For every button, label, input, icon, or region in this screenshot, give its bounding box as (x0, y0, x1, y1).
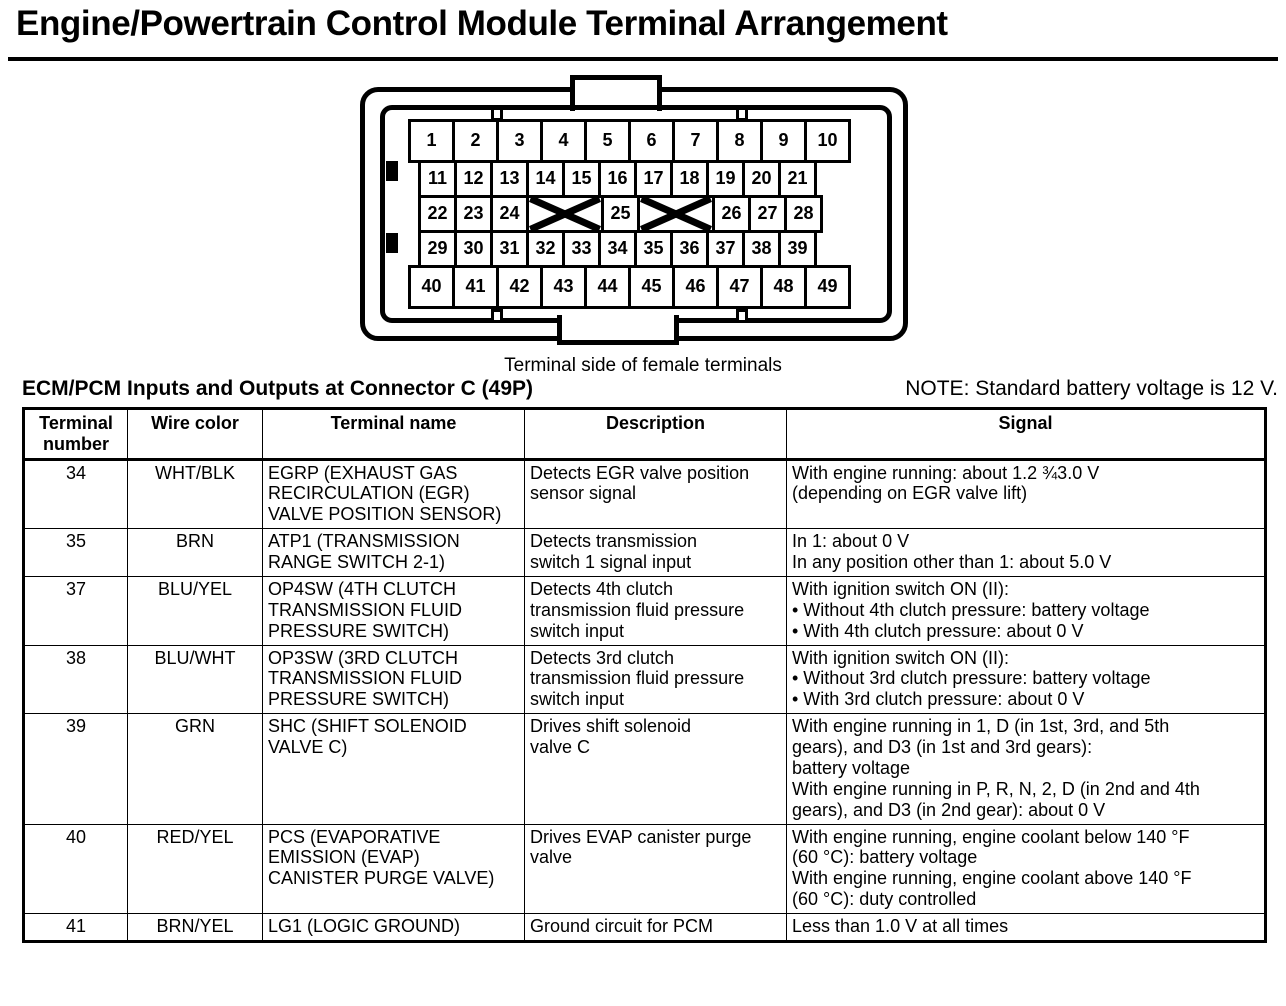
sig-line: (60 °C): battery voltage (792, 847, 1259, 868)
cell-signal: With engine running: about 1.2 ¾3.0 V(de… (787, 459, 1266, 529)
terminal-cell-44: 44 (584, 265, 631, 309)
nm-line: SHC (SHIFT SOLENOID (268, 716, 519, 737)
terminal-cell-14: 14 (526, 160, 565, 198)
cell-terminal-number: 37 (24, 576, 128, 645)
sig-line: In 1: about 0 V (792, 531, 1259, 552)
terminal-number-label: 27 (757, 203, 777, 224)
terminal-cell-blocked (526, 195, 604, 233)
terminal-cell-24: 24 (490, 195, 529, 233)
cell-signal: With ignition switch ON (II):• Without 4… (787, 576, 1266, 645)
nm-line: LG1 (LOGIC GROUND) (268, 916, 519, 937)
cell-terminal-number: 41 (24, 914, 128, 942)
table-row: 40RED/YELPCS (EVAPORATIVEEMISSION (EVAP)… (24, 824, 1266, 914)
pin-table-head: Terminal number Wire color Terminal name… (24, 408, 1266, 459)
terminal-cell-11: 11 (418, 160, 457, 198)
cell-wire-color: BRN/YEL (128, 914, 263, 942)
terminal-number-label: 6 (646, 130, 656, 151)
cell-description: Drives shift solenoidvalve C (525, 714, 787, 824)
terminal-number-label: 43 (553, 276, 573, 297)
sig-line: With ignition switch ON (II): (792, 648, 1259, 669)
nm-line: Detects 3rd clutch (530, 648, 781, 669)
nm-line: transmission fluid pressure (530, 668, 781, 689)
cell-description: Detects EGR valve positionsensor signal (525, 459, 787, 529)
nm-line: ATP1 (TRANSMISSION (268, 531, 519, 552)
terminal-cell-35: 35 (634, 230, 673, 268)
terminal-number-label: 37 (715, 238, 735, 259)
nm-line: EGRP (EXHAUST GAS (268, 463, 519, 484)
nm-line: VALVE POSITION SENSOR) (268, 504, 519, 525)
terminal-number-label: 39 (787, 238, 807, 259)
nm-line: VALVE C) (268, 737, 519, 758)
terminal-number-label: 45 (641, 276, 661, 297)
terminal-number-label: 30 (463, 238, 483, 259)
terminal-cell-18: 18 (670, 160, 709, 198)
cell-terminal-name: LG1 (LOGIC GROUND) (263, 914, 525, 942)
terminal-cell-5: 5 (584, 119, 631, 163)
terminal-cell-4: 4 (540, 119, 587, 163)
terminal-grid: 12345678910 1112131415161718192021 22232… (398, 119, 874, 311)
nm-line: OP3SW (3RD CLUTCH (268, 648, 519, 669)
cell-terminal-number: 38 (24, 645, 128, 714)
diagram-caption: Terminal side of female terminals (0, 355, 1286, 377)
nm-line: PRESSURE SWITCH) (268, 621, 519, 642)
sig-line: With engine running, engine coolant belo… (792, 827, 1259, 848)
nm-line: Drives shift solenoid (530, 716, 781, 737)
terminal-number-label: 2 (470, 130, 480, 151)
terminal-cell-8: 8 (716, 119, 763, 163)
terminal-number-label: 7 (690, 130, 700, 151)
terminal-cell-25: 25 (601, 195, 640, 233)
sig-line: In any position other than 1: about 5.0 … (792, 552, 1259, 573)
cell-terminal-name: PCS (EVAPORATIVEEMISSION (EVAP)CANISTER … (263, 824, 525, 914)
connector-bottom-tab-left (491, 309, 503, 323)
terminal-number-label: 1 (426, 130, 436, 151)
nm-line: TRANSMISSION FLUID (268, 600, 519, 621)
table-row: 34WHT/BLKEGRP (EXHAUST GASRECIRCULATION … (24, 459, 1266, 529)
cell-wire-color: BLU/WHT (128, 645, 263, 714)
nm-line: Detects transmission (530, 531, 781, 552)
sig-bullet: • Without 3rd clutch pressure: battery v… (792, 668, 1259, 689)
sig-line: battery voltage (792, 758, 1259, 779)
terminal-number-label: 15 (571, 168, 591, 189)
cell-description: Drives EVAP canister purgevalve (525, 824, 787, 914)
nm-line: valve C (530, 737, 781, 758)
nm-line: Detects 4th clutch (530, 579, 781, 600)
terminal-number-label: 9 (778, 130, 788, 151)
cell-signal: In 1: about 0 VIn any position other tha… (787, 529, 1266, 577)
terminal-number-label: 20 (751, 168, 771, 189)
terminal-number-label: 24 (499, 203, 519, 224)
sig-bullet: • With 4th clutch pressure: about 0 V (792, 621, 1259, 642)
cell-terminal-name: OP4SW (4TH CLUTCHTRANSMISSION FLUIDPRESS… (263, 576, 525, 645)
terminal-number-label: 4 (558, 130, 568, 151)
column-header-terminal-name: Terminal name (263, 408, 525, 459)
column-header-terminal-number: Terminal number (24, 408, 128, 459)
terminal-cell-33: 33 (562, 230, 601, 268)
sig-line: (60 °C): duty controlled (792, 889, 1259, 910)
terminal-cell-28: 28 (784, 195, 823, 233)
column-header-terminal-number-line1: Terminal (39, 413, 113, 433)
terminal-cell-37: 37 (706, 230, 745, 268)
terminal-number-label: 13 (499, 168, 519, 189)
terminal-number-label: 42 (509, 276, 529, 297)
cell-signal: With engine running in 1, D (in 1st, 3rd… (787, 714, 1266, 824)
cell-description: Detects 4th clutchtransmission fluid pre… (525, 576, 787, 645)
terminal-row-2: 1112131415161718192021 (418, 160, 817, 198)
connector-bottom-latch-mask (562, 311, 674, 323)
terminal-number-label: 38 (751, 238, 771, 259)
connector-top-tab-left (491, 107, 503, 121)
terminal-number-label: 17 (643, 168, 663, 189)
nm-line: switch 1 signal input (530, 552, 781, 573)
terminal-number-label: 46 (685, 276, 705, 297)
connector-top-tab-right (736, 107, 748, 121)
table-row: 41BRN/YELLG1 (LOGIC GROUND)Ground circui… (24, 914, 1266, 942)
cell-terminal-name: EGRP (EXHAUST GASRECIRCULATION (EGR)VALV… (263, 459, 525, 529)
terminal-cell-29: 29 (418, 230, 457, 268)
terminal-number-label: 35 (643, 238, 663, 259)
terminal-row-3: 22232425262728 (418, 195, 823, 233)
pin-table: Terminal number Wire color Terminal name… (22, 407, 1267, 943)
terminal-cell-22: 22 (418, 195, 457, 233)
terminal-cell-47: 47 (716, 265, 763, 309)
terminal-number-label: 26 (721, 203, 741, 224)
table-row: 35BRNATP1 (TRANSMISSIONRANGE SWITCH 2-1)… (24, 529, 1266, 577)
terminal-cell-21: 21 (778, 160, 817, 198)
title-divider (8, 57, 1278, 61)
terminal-number-label: 33 (571, 238, 591, 259)
terminal-number-label: 31 (499, 238, 519, 259)
terminal-cell-40: 40 (408, 265, 455, 309)
terminal-cell-45: 45 (628, 265, 675, 309)
cell-signal: With ignition switch ON (II):• Without 3… (787, 645, 1266, 714)
cell-description: Detects 3rd clutchtransmission fluid pre… (525, 645, 787, 714)
cell-description: Detects transmissionswitch 1 signal inpu… (525, 529, 787, 577)
terminal-number-label: 25 (610, 203, 630, 224)
sig-line: (depending on EGR valve lift) (792, 483, 1259, 504)
terminal-number-label: 29 (427, 238, 447, 259)
page-title: Engine/Powertrain Control Module Termina… (0, 0, 1286, 43)
terminal-cell-2: 2 (452, 119, 499, 163)
terminal-number-label: 8 (734, 130, 744, 151)
nm-line: Detects EGR valve position (530, 463, 781, 484)
cell-wire-color: GRN (128, 714, 263, 824)
terminal-number-label: 5 (602, 130, 612, 151)
cell-terminal-number: 35 (24, 529, 128, 577)
section-heading: ECM/PCM Inputs and Outputs at Connector … (22, 377, 533, 401)
nm-line: EMISSION (EVAP) (268, 847, 519, 868)
nm-line: TRANSMISSION FLUID (268, 668, 519, 689)
cell-signal: Less than 1.0 V at all times (787, 914, 1266, 942)
sig-line: With engine running, engine coolant abov… (792, 868, 1259, 889)
terminal-cell-48: 48 (760, 265, 807, 309)
cell-terminal-name: ATP1 (TRANSMISSIONRANGE SWITCH 2-1) (263, 529, 525, 577)
terminal-cell-43: 43 (540, 265, 587, 309)
cell-description: Ground circuit for PCM (525, 914, 787, 942)
terminal-cell-6: 6 (628, 119, 675, 163)
terminal-cell-12: 12 (454, 160, 493, 198)
nm-line: Drives EVAP canister purge (530, 827, 781, 848)
nm-line: PRESSURE SWITCH) (268, 689, 519, 710)
cell-terminal-number: 39 (24, 714, 128, 824)
cell-terminal-number: 40 (24, 824, 128, 914)
terminal-number-label: 19 (715, 168, 735, 189)
terminal-cell-1: 1 (408, 119, 455, 163)
terminal-number-label: 23 (463, 203, 483, 224)
terminal-number-label: 32 (535, 238, 555, 259)
terminal-number-label: 47 (729, 276, 749, 297)
cell-wire-color: BLU/YEL (128, 576, 263, 645)
terminal-cell-10: 10 (804, 119, 851, 163)
cell-signal: With engine running, engine coolant belo… (787, 824, 1266, 914)
table-row: 39GRNSHC (SHIFT SOLENOIDVALVE C)Drives s… (24, 714, 1266, 824)
terminal-number-label: 16 (607, 168, 627, 189)
pin-table-wrap: Terminal number Wire color Terminal name… (0, 407, 1286, 943)
cell-wire-color: WHT/BLK (128, 459, 263, 529)
sig-bullet: • Without 4th clutch pressure: battery v… (792, 600, 1259, 621)
terminal-number-label: 14 (535, 168, 555, 189)
terminal-cell-34: 34 (598, 230, 637, 268)
terminal-number-label: 11 (428, 168, 447, 189)
terminal-row-5: 40414243444546474849 (408, 265, 851, 309)
terminal-number-label: 12 (463, 168, 483, 189)
connector-diagram: 12345678910 1112131415161718192021 22232… (0, 67, 1286, 367)
cell-terminal-name: SHC (SHIFT SOLENOIDVALVE C) (263, 714, 525, 824)
terminal-cell-30: 30 (454, 230, 493, 268)
nm-line: switch input (530, 621, 781, 642)
connector-body: 12345678910 1112131415161718192021 22232… (352, 75, 908, 349)
terminal-cell-32: 32 (526, 230, 565, 268)
nm-line: PCS (EVAPORATIVE (268, 827, 519, 848)
terminal-cell-blocked (637, 195, 715, 233)
terminal-number-label: 49 (817, 276, 837, 297)
cell-wire-color: RED/YEL (128, 824, 263, 914)
terminal-number-label: 3 (514, 130, 524, 151)
pin-table-body: 34WHT/BLKEGRP (EXHAUST GASRECIRCULATION … (24, 459, 1266, 941)
terminal-cell-7: 7 (672, 119, 719, 163)
nm-line: sensor signal (530, 483, 781, 504)
terminal-number-label: 34 (607, 238, 627, 259)
terminal-number-label: 40 (421, 276, 441, 297)
terminal-number-label: 10 (817, 130, 837, 151)
terminal-cell-41: 41 (452, 265, 499, 309)
column-header-terminal-number-line2: number (43, 434, 109, 454)
table-row: 38BLU/WHTOP3SW (3RD CLUTCHTRANSMISSION F… (24, 645, 1266, 714)
terminal-number-label: 41 (465, 276, 485, 297)
nm-line: RANGE SWITCH 2-1) (268, 552, 519, 573)
terminal-cell-26: 26 (712, 195, 751, 233)
terminal-cell-3: 3 (496, 119, 543, 163)
section-note: NOTE: Standard battery voltage is 12 V. (905, 377, 1280, 401)
terminal-row-4: 2930313233343536373839 (418, 230, 817, 268)
terminal-cell-38: 38 (742, 230, 781, 268)
sig-line: gears), and D3 (in 2nd gear): about 0 V (792, 800, 1259, 821)
terminal-cell-49: 49 (804, 265, 851, 309)
terminal-cell-19: 19 (706, 160, 745, 198)
nm-line: switch input (530, 689, 781, 710)
terminal-cell-31: 31 (490, 230, 529, 268)
nm-line: transmission fluid pressure (530, 600, 781, 621)
column-header-signal: Signal (787, 408, 1266, 459)
terminal-cell-13: 13 (490, 160, 529, 198)
nm-line: OP4SW (4TH CLUTCH (268, 579, 519, 600)
column-header-description: Description (525, 408, 787, 459)
terminal-cell-20: 20 (742, 160, 781, 198)
nm-line: CANISTER PURGE VALVE) (268, 868, 519, 889)
terminal-cell-23: 23 (454, 195, 493, 233)
pin-table-header-row: Terminal number Wire color Terminal name… (24, 408, 1266, 459)
cell-wire-color: BRN (128, 529, 263, 577)
cell-terminal-name: OP3SW (3RD CLUTCHTRANSMISSION FLUIDPRESS… (263, 645, 525, 714)
sig-line: With engine running in P, R, N, 2, D (in… (792, 779, 1259, 800)
nm-line: Ground circuit for PCM (530, 916, 781, 937)
terminal-cell-39: 39 (778, 230, 817, 268)
terminal-number-label: 44 (597, 276, 617, 297)
sig-line: Less than 1.0 V at all times (792, 916, 1259, 937)
cell-terminal-number: 34 (24, 459, 128, 529)
terminal-row-1: 12345678910 (408, 119, 851, 163)
terminal-number-label: 28 (793, 203, 813, 224)
sig-line: With engine running in 1, D (in 1st, 3rd… (792, 716, 1259, 737)
terminal-cell-9: 9 (760, 119, 807, 163)
table-row: 37BLU/YELOP4SW (4TH CLUTCHTRANSMISSION F… (24, 576, 1266, 645)
terminal-cell-46: 46 (672, 265, 719, 309)
terminal-cell-27: 27 (748, 195, 787, 233)
terminal-cell-16: 16 (598, 160, 637, 198)
terminal-number-label: 36 (679, 238, 699, 259)
terminal-cell-42: 42 (496, 265, 543, 309)
terminal-number-label: 18 (679, 168, 699, 189)
terminal-cell-36: 36 (670, 230, 709, 268)
sig-line: gears), and D3 (in 1st and 3rd gears): (792, 737, 1259, 758)
terminal-number-label: 48 (773, 276, 793, 297)
terminal-number-label: 21 (787, 168, 807, 189)
terminal-cell-17: 17 (634, 160, 673, 198)
sig-line: With engine running: about 1.2 ¾3.0 V (792, 463, 1259, 484)
sig-line: With ignition switch ON (II): (792, 579, 1259, 600)
nm-line: RECIRCULATION (EGR) (268, 483, 519, 504)
column-header-wire-color: Wire color (128, 408, 263, 459)
terminal-cell-15: 15 (562, 160, 601, 198)
nm-line: valve (530, 847, 781, 868)
terminal-number-label: 22 (427, 203, 447, 224)
connector-bottom-tab-right (736, 309, 748, 323)
sig-bullet: • With 3rd clutch pressure: about 0 V (792, 689, 1259, 710)
